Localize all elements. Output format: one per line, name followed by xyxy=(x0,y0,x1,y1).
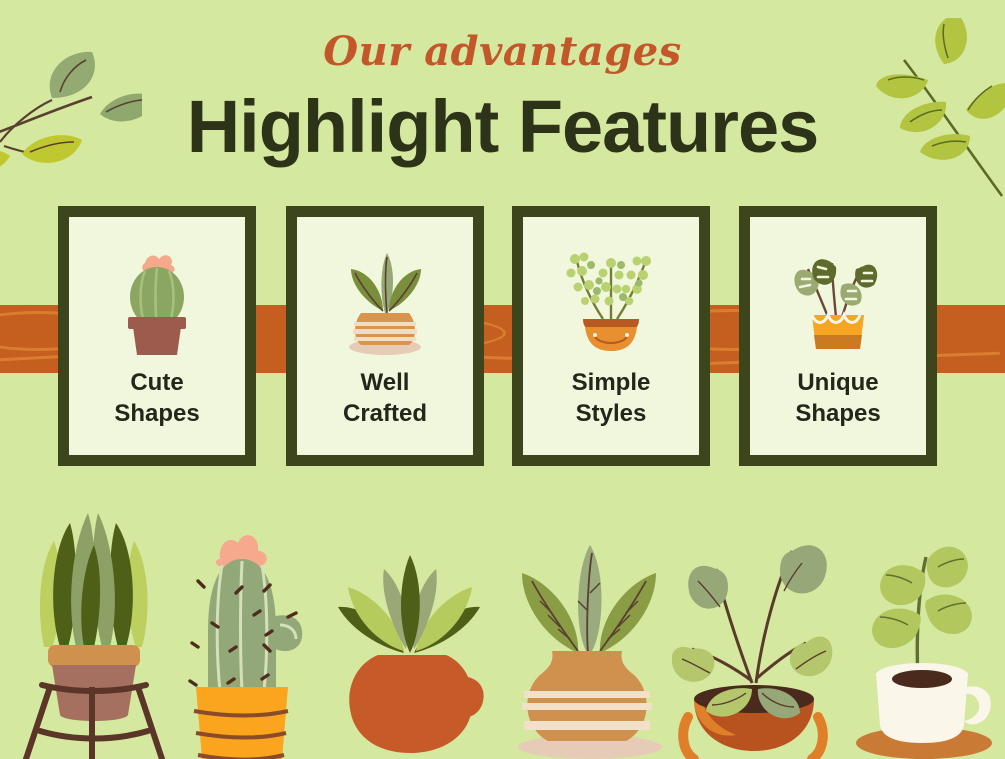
flowering-cactus-in-striped-pot-illustration xyxy=(172,521,312,759)
feature-card-inner: Well Crafted xyxy=(297,217,473,455)
bottom-plant-row xyxy=(0,489,1005,759)
feature-card-simple-styles[interactable]: Simple Styles xyxy=(512,206,710,466)
sprig-plant-in-round-pot-icon xyxy=(551,239,671,359)
page-title: Highlight Features xyxy=(0,88,1005,166)
header: Our advantages Highlight Features xyxy=(0,0,1005,166)
poster-canvas: Our advantages Highlight Features Cute S… xyxy=(0,0,1005,759)
feature-card-inner: Simple Styles xyxy=(523,217,699,455)
feature-card-label: Cute Shapes xyxy=(69,367,245,429)
eyebrow-text: Our advantages xyxy=(0,32,1005,72)
trailing-plant-in-footed-pot-illustration xyxy=(672,513,837,759)
feature-card-label: Simple Styles xyxy=(523,367,699,429)
feature-card-cute-shapes[interactable]: Cute Shapes xyxy=(58,206,256,466)
seedling-in-mug-illustration xyxy=(846,529,996,759)
leafy-plant-in-striped-vase-illustration xyxy=(500,531,670,759)
feature-card-well-crafted[interactable]: Well Crafted xyxy=(286,206,484,466)
feature-card-inner: Cute Shapes xyxy=(69,217,245,455)
aloe-plant-in-jug-illustration xyxy=(330,537,490,759)
feature-card-unique-shapes[interactable]: Unique Shapes xyxy=(739,206,937,466)
flowering-cactus-in-pot-icon xyxy=(97,239,217,359)
feature-card-label: Unique Shapes xyxy=(750,367,926,429)
monstera-plant-in-orange-pot-icon xyxy=(778,239,898,359)
feature-card-label: Well Crafted xyxy=(297,367,473,429)
snake-plant-on-stand-illustration xyxy=(14,497,174,759)
feature-card-inner: Unique Shapes xyxy=(750,217,926,455)
leafy-plant-in-striped-vase-icon xyxy=(325,239,445,359)
